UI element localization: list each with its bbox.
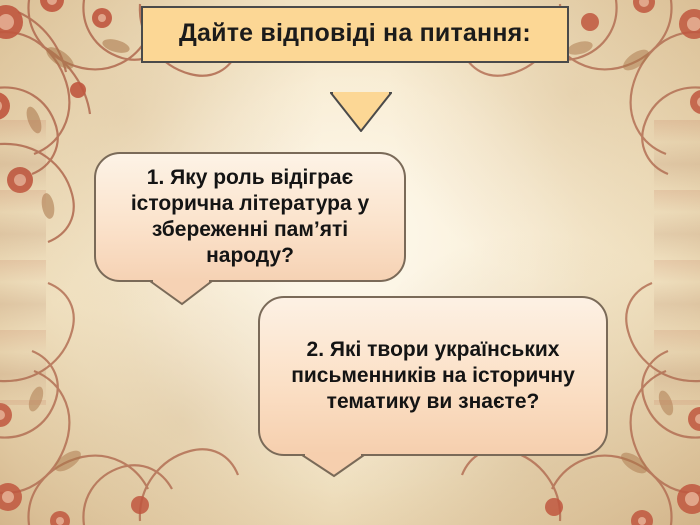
question-bubble-1-tail [148,280,214,306]
title-callout-tail [330,92,392,132]
page-title: Дайте відповіді на питання: [155,18,555,49]
floral-corner-ornament-bottom-left [0,281,240,525]
right-edge-ornament-band [654,120,700,405]
left-edge-ornament-band [0,120,46,405]
question-1-text: 1. Яку роль відіграє історична літератур… [110,165,390,269]
slide-canvas: Дайте відповіді на питання: 1. Яку роль … [0,0,700,525]
question-bubble-1: 1. Яку роль відіграє історична літератур… [94,152,406,282]
question-2-text: 2. Які твори українських письменників на… [274,337,592,415]
question-bubble-2-tail [300,454,366,478]
title-callout: Дайте відповіді на питання: [141,6,569,63]
question-bubble-2: 2. Які твори українських письменників на… [258,296,608,456]
